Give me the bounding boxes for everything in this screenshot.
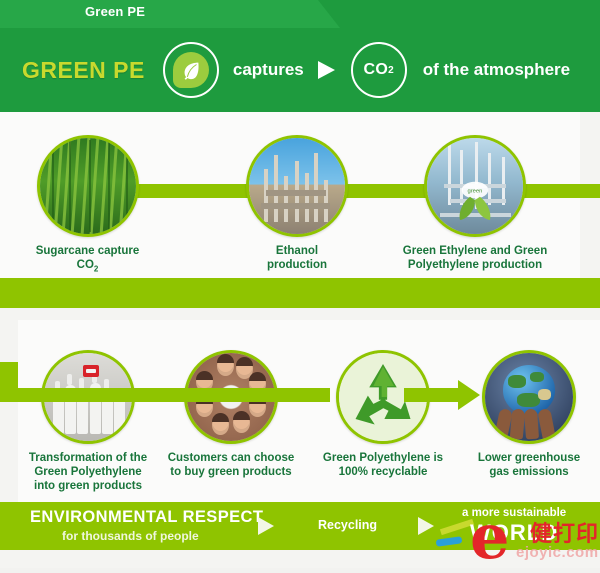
header-banner: Green PE GREEN PE captures CO2 of the at…: [0, 0, 600, 112]
svg-text:green: green: [468, 189, 483, 195]
footer-sub-label: for thousands of people: [62, 529, 199, 543]
tab-green-pe-label: Green PE: [85, 4, 145, 19]
header-tab-strip: Green PE: [0, 0, 600, 28]
node-transformation[interactable]: Transformation of the Green Polyethylene…: [26, 350, 150, 493]
infographic-page: Green PE GREEN PE captures CO2 of the at…: [0, 0, 600, 568]
node-green-ethylene-line1: Green Ethylene and Green: [395, 244, 555, 258]
footer-decor-strip-yellow: [440, 519, 474, 535]
node-emissions-line1: Lower greenhouse: [470, 451, 588, 465]
node-green-ethylene[interactable]: green Green Ethylene and Green Polyethyl…: [395, 135, 555, 272]
node-customers[interactable]: Customers can choose to buy green produc…: [166, 350, 296, 479]
globe-in-hands-icon: [482, 350, 576, 444]
node-transformation-line1: Transformation of the: [26, 451, 150, 465]
arrow-right-icon: [318, 61, 335, 79]
node-emissions-label: Lower greenhouse gas emissions: [470, 451, 588, 479]
footer-right-bottom-label: WORLD: [470, 520, 558, 546]
row2-big-arrow-icon: [404, 380, 480, 410]
node-transformation-label: Transformation of the Green Polyethylene…: [26, 451, 150, 493]
atmosphere-label: of the atmosphere: [423, 60, 570, 80]
node-recyclable[interactable]: Green Polyethylene is 100% recyclable: [318, 350, 448, 479]
red-tag-icon: [83, 365, 99, 377]
node-emissions-line2: gas emissions: [470, 465, 588, 479]
node-green-ethylene-label: Green Ethylene and Green Polyethylene pr…: [395, 244, 555, 272]
node-customers-label: Customers can choose to buy green produc…: [166, 451, 296, 479]
co2-subscript: 2: [388, 65, 394, 76]
row2-connector-left: [0, 388, 330, 402]
captures-label: captures: [233, 60, 304, 80]
node-emissions[interactable]: Lower greenhouse gas emissions: [470, 350, 588, 479]
node-customers-line2: to buy green products: [166, 465, 296, 479]
node-recyclable-line1: Green Polyethylene is: [318, 451, 448, 465]
node-ethanol-label: Ethanol production: [245, 244, 349, 272]
node-sugarcane-label-text: Sugarcane capture CO: [36, 245, 140, 271]
node-customers-line1: Customers can choose: [166, 451, 296, 465]
footer-right-top-label: a more sustainable: [462, 507, 566, 519]
footer-arrow-icon-1: [258, 517, 274, 535]
node-recyclable-label: Green Polyethylene is 100% recyclable: [318, 451, 448, 479]
node-transformation-line2: Green Polyethylene: [26, 465, 150, 479]
node-recyclable-line2: 100% recyclable: [318, 465, 448, 479]
footer-banner: ENVIRONMENTAL RESPECT for thousands of p…: [0, 502, 600, 550]
sugarcane-field-icon: [37, 135, 139, 237]
node-ethanol[interactable]: Ethanol production: [245, 135, 349, 272]
footer-main-label: ENVIRONMENTAL RESPECT: [30, 508, 263, 527]
node-sugarcane[interactable]: Sugarcane capture CO2: [30, 135, 145, 276]
leaf-bubble-icon: [163, 42, 219, 98]
footer-decor-strip-blue: [436, 536, 463, 547]
co2-badge: CO2: [351, 42, 407, 98]
node-green-ethylene-line2: Polyethylene production: [395, 258, 555, 272]
row1-lime-bar: [0, 278, 600, 308]
footer-arrow-icon-2: [418, 517, 434, 535]
node-transformation-line3: into green products: [26, 479, 150, 493]
header-content-row: GREEN PE captures CO2 of the atmosphere: [0, 28, 600, 112]
node-sugarcane-label-sub: 2: [94, 264, 98, 273]
co2-text: CO: [364, 61, 389, 79]
node-sugarcane-label: Sugarcane capture CO2: [30, 244, 145, 276]
page-title: GREEN PE: [22, 57, 145, 84]
tab-green-pe[interactable]: [0, 0, 350, 28]
petrochemical-rig-icon: green: [424, 135, 526, 237]
footer-middle-label: Recycling: [318, 518, 377, 532]
ethanol-plant-icon: [246, 135, 348, 237]
